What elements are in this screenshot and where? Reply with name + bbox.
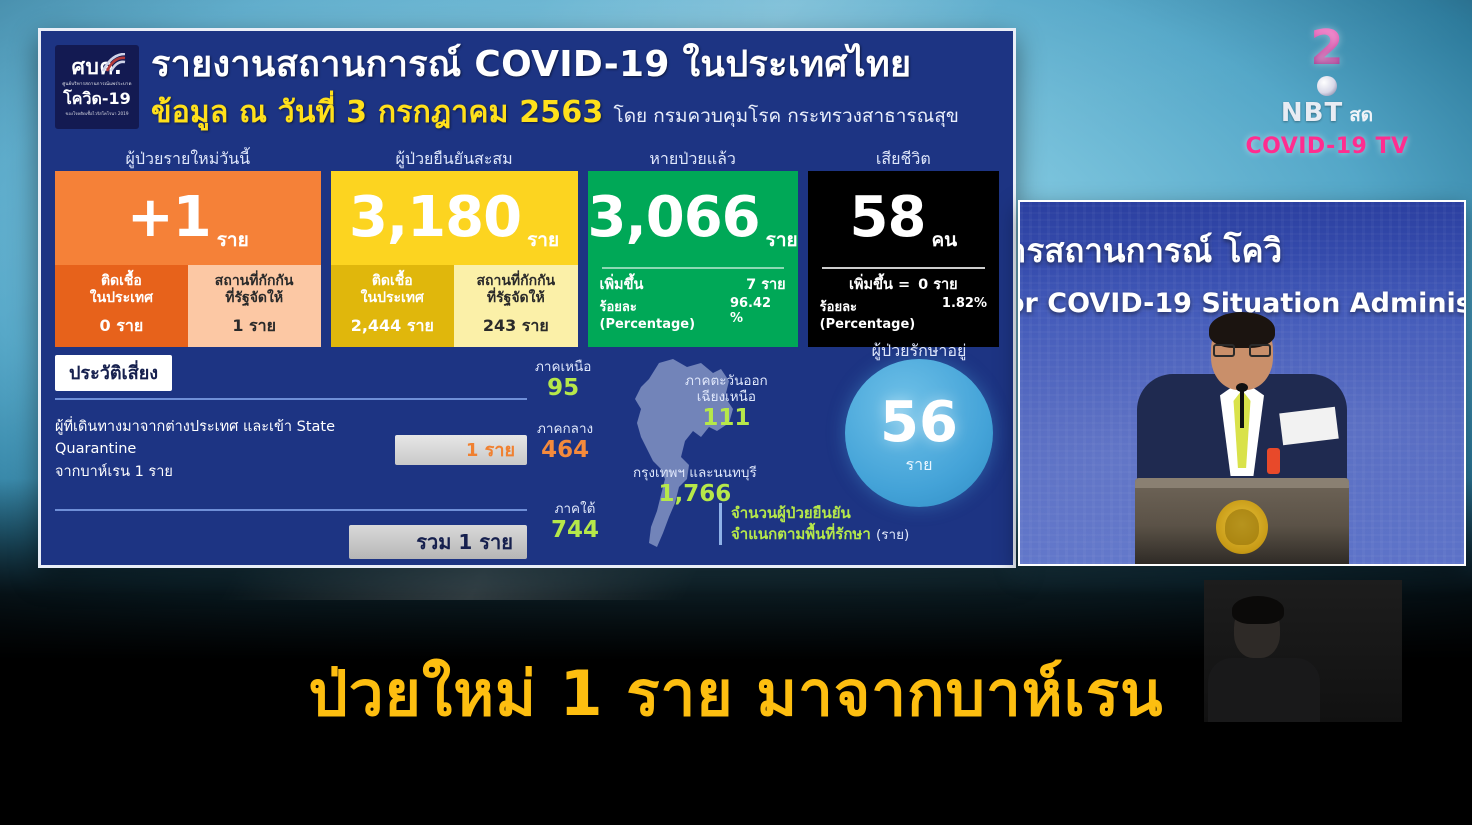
cumulative-unit: ราย [527, 225, 559, 265]
new-quarantine-value: 1 ราย [232, 314, 276, 339]
cumulative-value: 3,180 [349, 190, 521, 246]
stat-boxes-row: +1 ราย ติดเชื้อ ในประเทศ 0 ราย สถานที่กั… [55, 171, 999, 347]
region-central-label: ภาคกลาง [537, 421, 593, 437]
caption-cumulative: ผู้ป่วยยืนยันสะสม [331, 147, 578, 171]
sbk-logo: ศบค. ศูนย์บริหารสถานการณ์แพร่ระบาด โควิด… [55, 45, 139, 129]
risk-row-text-line2: จากบาห์เรน 1 ราย [55, 461, 385, 483]
live-badge: สด [1349, 100, 1373, 130]
column-captions: ผู้ป่วยรายใหม่วันนี้ ผู้ป่วยยืนยันสะสม ห… [55, 147, 999, 171]
channel-number: 2 [1232, 24, 1422, 72]
region-bangkok-label: กรุงเทพฯ และนนทบุรี [633, 465, 757, 481]
region-south: ภาคใต้ 744 [551, 501, 599, 543]
risk-divider-bottom [55, 509, 527, 511]
cumulative-quarantine-value: 243 ราย [483, 314, 549, 339]
region-central: ภาคกลาง 464 [537, 421, 593, 463]
region-northeast-label2: เฉียงเหนือ [685, 389, 768, 405]
garuda-emblem-icon [1216, 500, 1268, 554]
region-northeast: ภาคตะวันออก เฉียงเหนือ 111 [685, 373, 768, 432]
video-backdrop-title-thai: ารสถานการณ์ โควิ [1018, 224, 1282, 277]
covid-report-panel: ศบค. ศูนย์บริหารสถานการณ์แพร่ระบาด โควิด… [38, 28, 1016, 568]
sbk-stripes-icon [99, 53, 127, 73]
nbt-channel-logo: 2 NBT สด COVID-19 TV [1232, 24, 1422, 159]
sbk-line2: โควิด-19 [63, 91, 131, 107]
active-cases-circle: ผู้ป่วยรักษาอยู่ 56 ราย [845, 359, 993, 507]
deaths-percent-value: 1.82% [942, 296, 987, 332]
cumulative-local-label1: ติดเชื้อ [361, 273, 424, 290]
region-northeast-value: 111 [685, 406, 768, 431]
map-legend: จำนวนผู้ป่วยยืนยัน จำแนกตามพื้นที่รักษา … [719, 503, 909, 545]
sbk-line2-sub: ของโรคติดเชื้อไวรัสโคโรนา 2019 [66, 110, 129, 117]
new-quarantine-label1: สถานที่กักกัน [215, 273, 294, 290]
new-local-cell: ติดเชื้อ ในประเทศ 0 ราย [55, 265, 188, 347]
region-central-value: 464 [537, 438, 593, 463]
region-bangkok: กรุงเทพฯ และนนทบุรี 1,766 [633, 465, 757, 507]
new-local-label1: ติดเชื้อ [90, 273, 153, 290]
panel-title: รายงานสถานการณ์ COVID-19 ในประเทศไทย [151, 45, 959, 85]
inset-person-hair [1232, 596, 1284, 624]
new-quarantine-label2: ที่รัฐจัดให้ [215, 290, 294, 307]
risk-total-value: รวม 1 ราย [349, 525, 527, 559]
speaker-papers [1279, 407, 1338, 446]
panel-source: โดย กรมควบคุมโรค กระทรวงสาธารณสุข [614, 101, 959, 131]
new-cases-value: +1 [127, 190, 211, 246]
region-north-value: 95 [535, 376, 591, 401]
legend-unit: (ราย) [876, 527, 909, 543]
risk-row-value: 1 ราย [395, 435, 527, 465]
recovered-unit: ราย [766, 225, 798, 265]
speaker-figure [1092, 314, 1392, 564]
new-quarantine-cell: สถานที่กักกัน ที่รัฐจัดให้ 1 ราย [188, 265, 321, 347]
nbt-bullet-icon [1317, 76, 1337, 96]
risk-history-tag: ประวัติเสี่ยง [55, 355, 172, 391]
new-local-value: 0 ราย [100, 314, 144, 339]
new-cases-unit: ราย [217, 225, 249, 265]
program-name: COVID-19 TV [1232, 134, 1422, 159]
risk-row-text-line1: ผู้ที่เดินทางมาจากต่างประเทศ และเข้า Sta… [55, 416, 385, 461]
network-name: NBT [1281, 98, 1343, 128]
caption-new-cases: ผู้ป่วยรายใหม่วันนี้ [55, 147, 321, 171]
active-cases-unit: ราย [906, 453, 933, 478]
region-north: ภาคเหนือ 95 [535, 359, 591, 401]
recovered-increase-row: เพิ่มขึ้น 7 ราย [588, 273, 798, 296]
risk-history-section: ประวัติเสี่ยง ผู้ที่เดินทางมาจากต่างประเ… [55, 355, 533, 553]
recovered-divider [602, 267, 784, 269]
stat-box-deaths: 58 คน เพิ่มขึ้น = 0 ราย ร้อยละ (Percenta… [808, 171, 999, 347]
region-south-value: 744 [551, 518, 599, 543]
deaths-increase-label: เพิ่มขึ้น = [849, 273, 910, 296]
risk-divider-top [55, 398, 527, 400]
stat-box-recovered: 3,066 ราย เพิ่มขึ้น 7 ราย ร้อยละ (Percen… [588, 171, 798, 347]
sbk-acronym-sub: ศูนย์บริหารสถานการณ์แพร่ระบาด [62, 80, 131, 87]
region-south-label: ภาคใต้ [551, 501, 599, 517]
caption-recovered: หายป่วยแล้ว [588, 147, 798, 171]
region-northeast-label1: ภาคตะวันออก [685, 373, 768, 389]
deaths-percent-row: ร้อยละ (Percentage) 1.82% [808, 296, 999, 338]
active-cases-value: 56 [880, 395, 958, 451]
deaths-divider [822, 267, 985, 269]
active-cases-label: ผู้ป่วยรักษาอยู่ [872, 339, 967, 364]
legend-line2: จำแนกตามพื้นที่รักษา [731, 525, 871, 543]
press-conference-video: ารสถานการณ์ โควิ or COVID-19 Situation A… [1018, 200, 1466, 566]
recovered-percent-row: ร้อยละ (Percentage) 96.42 % [588, 296, 798, 338]
speaker-lapel-pin [1267, 448, 1280, 474]
deaths-percent-label: ร้อยละ (Percentage) [820, 296, 936, 332]
panel-date: ข้อมูล ณ วันที่ 3 กรกฎาคม 2563 [151, 89, 604, 136]
cumulative-local-value: 2,444 ราย [351, 314, 434, 339]
cumulative-quarantine-label2: ที่รัฐจัดให้ [476, 290, 555, 307]
deaths-unit: คน [931, 225, 957, 265]
deaths-increase-value: 0 ราย [918, 273, 958, 296]
recovered-value: 3,066 [588, 190, 760, 246]
recovered-percent-value: 96.42 % [730, 296, 786, 332]
news-caption: ป่วยใหม่ 1 ราย มาจากบาห์เรน [0, 645, 1472, 743]
deaths-value: 58 [850, 190, 926, 246]
podium [1135, 478, 1349, 564]
map-section: ภาคเหนือ 95 ภาคตะวันออก เฉียงเหนือ 111 ภ… [533, 355, 999, 553]
deaths-increase-row: เพิ่มขึ้น = 0 ราย [808, 273, 999, 296]
speaker-glasses-icon [1213, 344, 1271, 357]
cumulative-local-cell: ติดเชื้อ ในประเทศ 2,444 ราย [331, 265, 455, 347]
stat-box-new-cases: +1 ราย ติดเชื้อ ในประเทศ 0 ราย สถานที่กั… [55, 171, 321, 347]
risk-row-text: ผู้ที่เดินทางมาจากต่างประเทศ และเข้า Sta… [55, 416, 385, 483]
speaker-hair [1209, 312, 1275, 348]
new-local-label2: ในประเทศ [90, 290, 153, 307]
recovered-increase-label: เพิ่มขึ้น [600, 273, 644, 296]
panel-lower-section: ประวัติเสี่ยง ผู้ที่เดินทางมาจากต่างประเ… [55, 355, 999, 553]
recovered-percent-label: ร้อยละ (Percentage) [600, 296, 730, 332]
caption-deaths: เสียชีวิต [808, 147, 999, 171]
microphone-icon [1240, 388, 1244, 428]
panel-header: ศบค. ศูนย์บริหารสถานการณ์แพร่ระบาด โควิด… [55, 41, 999, 145]
legend-line1: จำนวนผู้ป่วยยืนยัน [731, 503, 909, 524]
cumulative-quarantine-label1: สถานที่กักกัน [476, 273, 555, 290]
legend-accent-bar [719, 503, 722, 545]
cumulative-quarantine-cell: สถานที่กักกัน ที่รัฐจัดให้ 243 ราย [454, 265, 578, 347]
recovered-increase-value: 7 ราย [746, 273, 786, 296]
region-north-label: ภาคเหนือ [535, 359, 591, 375]
cumulative-local-label2: ในประเทศ [361, 290, 424, 307]
stat-box-cumulative: 3,180 ราย ติดเชื้อ ในประเทศ 2,444 ราย สถ… [331, 171, 578, 347]
